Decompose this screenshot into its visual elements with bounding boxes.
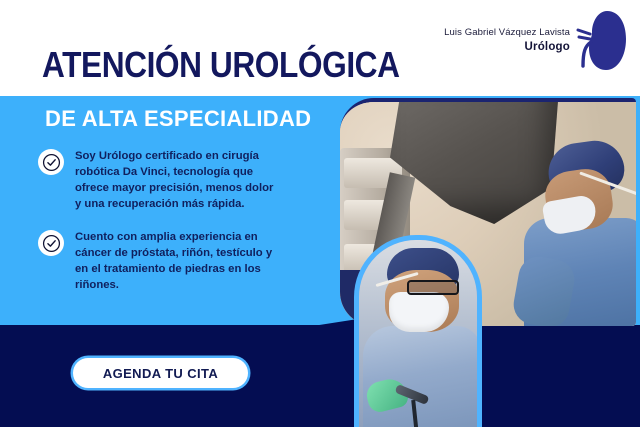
bullet-list: Soy Urólogo certificado en cirugía robót… [38, 148, 308, 310]
kidney-icon [576, 8, 628, 79]
bullet-text: Cuento con amplia experiencia en cáncer … [75, 229, 275, 293]
poster-canvas: Luis Gabriel Vázquez Lavista Urólogo ATE… [0, 0, 640, 427]
list-item: Cuento con amplia experiencia en cáncer … [38, 229, 308, 293]
check-circle-icon [38, 149, 64, 175]
brand-block: Luis Gabriel Vázquez Lavista Urólogo [444, 8, 628, 79]
doctor-name: Luis Gabriel Vázquez Lavista [444, 27, 570, 40]
check-circle-icon [38, 230, 64, 256]
surgeon-portrait-photo [354, 235, 482, 427]
list-item: Soy Urólogo certificado en cirugía robót… [38, 148, 308, 212]
brand-text: Luis Gabriel Vázquez Lavista Urólogo [444, 27, 570, 59]
bullet-text: Soy Urólogo certificado en cirugía robót… [75, 148, 275, 212]
book-appointment-button[interactable]: AGENDA TU CITA [73, 358, 248, 388]
surgeon-figure [520, 140, 636, 326]
page-title: ATENCIÓN UROLÓGICA [42, 47, 400, 83]
page-subtitle: DE ALTA ESPECIALIDAD [45, 108, 311, 130]
book-appointment-label: AGENDA TU CITA [103, 366, 218, 381]
doctor-role: Urólogo [444, 40, 570, 56]
